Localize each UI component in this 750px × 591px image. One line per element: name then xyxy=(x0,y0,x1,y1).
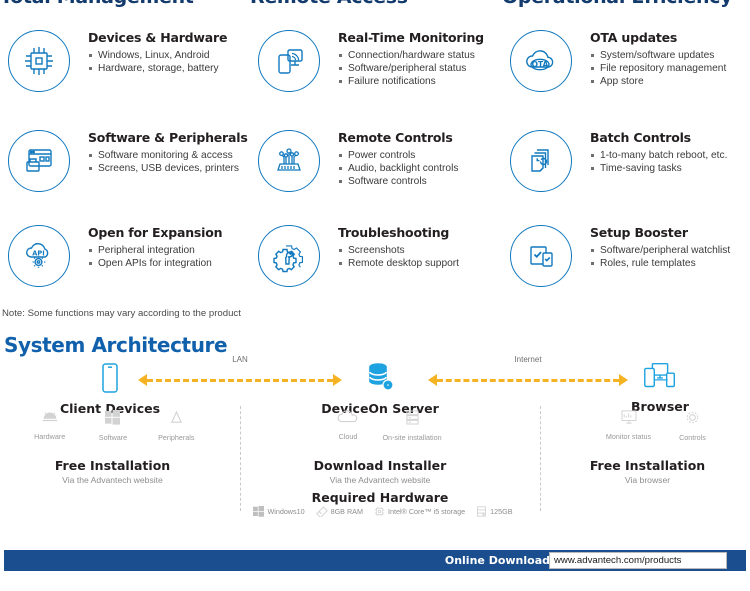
server-installer: Download Installer Via the Advantech web… xyxy=(260,458,500,485)
api-cloud-gear-icon: API xyxy=(8,225,70,287)
feature-title: Software & Peripherals xyxy=(88,130,253,145)
software-peripherals-icon xyxy=(8,130,70,192)
feature-bullet: Remote desktop support xyxy=(338,257,503,270)
browser-installation: Free Installation Via browser xyxy=(545,458,750,485)
feature-bullets: System/software updates File repository … xyxy=(590,49,750,88)
feature-title: Devices & Hardware xyxy=(88,30,253,45)
connection-label: LAN xyxy=(138,355,342,364)
feature-bullet: Failure notifications xyxy=(338,75,503,88)
storage-icon xyxy=(476,506,487,517)
sub-icon-hardware: Hardware xyxy=(18,410,81,442)
feature-text: Setup Booster Software/peripheral watchl… xyxy=(590,225,750,270)
feature-bullet: Hardware, storage, battery xyxy=(88,62,253,75)
feature-bullet: 1-to-many batch reboot, etc. xyxy=(590,149,750,162)
feature-text: Batch Controls 1-to-many batch reboot, e… xyxy=(590,130,750,175)
hardware-item-os: Windows10 xyxy=(253,506,304,517)
hardware-item-label: 8GB RAM xyxy=(331,507,363,516)
feature-bullet: Peripheral integration xyxy=(88,244,253,257)
arrow-left-icon xyxy=(428,374,437,386)
android-icon xyxy=(41,410,59,424)
feature-bullets: Software/peripheral watchlist Roles, rul… xyxy=(590,244,750,270)
troubleshooting-wrench-gear-icon xyxy=(258,225,320,287)
ota-cloud-icon: OTA xyxy=(510,30,572,92)
sub-icon-caption: Hardware xyxy=(18,432,81,441)
remote-controls-icon xyxy=(258,130,320,192)
chip-icon xyxy=(8,30,70,92)
connection-lan: LAN xyxy=(138,371,342,391)
browser-devices-icon xyxy=(640,362,680,392)
feature-bullet: File repository management xyxy=(590,62,750,75)
connection-internet: Internet xyxy=(428,371,628,391)
sub-icon-caption: Peripherals xyxy=(145,433,208,442)
feature-bullets: Power controls Audio, backlight controls… xyxy=(338,149,503,188)
browser-installation-headline: Free Installation xyxy=(545,458,750,473)
architecture-diagram: Client Devices Hardware Software Periphe… xyxy=(0,362,750,537)
hardware-item-label: Windows10 xyxy=(267,507,304,516)
hardware-item-ram: 8GB RAM xyxy=(316,506,363,517)
footer-bar: Online Download www.advantech.com/produc… xyxy=(4,550,746,571)
feature-bullets: Screenshots Remote desktop support xyxy=(338,244,503,270)
real-time-monitoring-icon xyxy=(258,30,320,92)
feature-card-batch-controls: Batch Controls 1-to-many batch reboot, e… xyxy=(502,130,750,225)
required-hardware-title: Required Hardware xyxy=(260,490,500,505)
feature-title: Real-Time Monitoring xyxy=(338,30,503,45)
column-headings: Total Management Remote Access Operation… xyxy=(0,0,750,8)
feature-bullet: System/software updates xyxy=(590,49,750,62)
ram-icon xyxy=(316,506,328,517)
feature-card-software-peripherals: Software & Peripherals Software monitori… xyxy=(0,130,250,225)
feature-bullet: Software/peripheral status xyxy=(338,62,503,75)
sub-icon-caption: Software xyxy=(81,433,144,442)
feature-bullets: 1-to-many batch reboot, etc. Time-saving… xyxy=(590,149,750,175)
feature-bullets: Software monitoring & access Screens, US… xyxy=(88,149,253,175)
feature-bullet: Windows, Linux, Android xyxy=(88,49,253,62)
dashed-line xyxy=(147,379,333,382)
hardware-item-cpu: Intel® Core™ i5 storage xyxy=(374,506,465,517)
feature-card-remote-controls: Remote Controls Power controls Audio, ba… xyxy=(250,130,500,225)
feature-bullets: Windows, Linux, Android Hardware, storag… xyxy=(88,49,253,75)
feature-bullet: Roles, rule templates xyxy=(590,257,750,270)
hardware-item-storage: 125GB xyxy=(476,506,512,517)
feature-card-devices-hardware: Devices & Hardware Windows, Linux, Andro… xyxy=(0,30,250,125)
feature-title: Troubleshooting xyxy=(338,225,503,240)
sub-icon-software: Software xyxy=(81,410,144,442)
on-site-server-icon xyxy=(406,410,419,425)
feature-bullet: Open APIs for integration xyxy=(88,257,253,270)
server-database-icon xyxy=(364,362,396,394)
feature-text: Devices & Hardware Windows, Linux, Andro… xyxy=(88,30,253,75)
feature-text: Remote Controls Power controls Audio, ba… xyxy=(338,130,503,188)
hardware-item-label: Intel® Core™ i5 storage xyxy=(388,507,465,516)
server-installer-headline: Download Installer xyxy=(260,458,500,473)
feature-bullet: App store xyxy=(590,75,750,88)
divider-right xyxy=(540,406,541,511)
peripherals-icon xyxy=(170,410,183,425)
feature-bullet: Screens, USB devices, printers xyxy=(88,162,253,175)
server-sub-icons: Cloud On-site installation xyxy=(300,410,460,442)
sub-icon-cloud: Cloud xyxy=(316,410,380,442)
svg-text:OTA: OTA xyxy=(532,60,549,69)
node-browser: Browser xyxy=(605,362,715,414)
feature-bullet: Audio, backlight controls xyxy=(338,162,503,175)
feature-title: Setup Booster xyxy=(590,225,750,240)
feature-bullet: Power controls xyxy=(338,149,503,162)
feature-title: Remote Controls xyxy=(338,130,503,145)
browser-sub-icons: Monitor status Controls xyxy=(578,410,743,442)
feature-title: Batch Controls xyxy=(590,130,750,145)
online-download-label: Online Download xyxy=(445,554,550,567)
monitor-status-icon xyxy=(621,410,637,424)
sub-icon-controls: Controls xyxy=(661,410,725,442)
client-installation: Free Installation Via the Advantech webs… xyxy=(0,458,225,485)
feature-bullet: Software controls xyxy=(338,175,503,188)
arrow-left-icon xyxy=(138,374,147,386)
client-installation-headline: Free Installation xyxy=(0,458,225,473)
feature-title: OTA updates xyxy=(590,30,750,45)
system-architecture-title: System Architecture xyxy=(4,333,227,357)
column-heading-remote-access: Remote Access xyxy=(250,0,408,8)
feature-bullet: Connection/hardware status xyxy=(338,49,503,62)
required-hardware-list: Windows10 8GB RAM Intel® Core™ i5 storag… xyxy=(248,506,518,517)
feature-text: Real-Time Monitoring Connection/hardware… xyxy=(338,30,503,88)
feature-bullet: Time-saving tasks xyxy=(590,162,750,175)
feature-bullets: Peripheral integration Open APIs for int… xyxy=(88,244,253,270)
feature-bullets: Connection/hardware status Software/peri… xyxy=(338,49,503,88)
node-deviceon-server: DeviceOn Server xyxy=(318,362,442,416)
client-installation-subline: Via the Advantech website xyxy=(0,475,225,485)
feature-bullet: Software monitoring & access xyxy=(88,149,253,162)
feature-bullet: Screenshots xyxy=(338,244,503,257)
server-installer-subline: Via the Advantech website xyxy=(260,475,500,485)
dashed-line xyxy=(437,379,619,382)
browser-installation-subline: Via browser xyxy=(545,475,750,485)
sub-icon-peripherals: Peripherals xyxy=(145,410,208,442)
controls-gear-icon xyxy=(685,410,700,425)
feature-card-open-for-expansion: API Open for Expansion Peripheral integr… xyxy=(0,225,250,320)
feature-text: Open for Expansion Peripheral integratio… xyxy=(88,225,253,270)
feature-card-setup-booster: Setup Booster Software/peripheral watchl… xyxy=(502,225,750,320)
sub-icon-caption: Controls xyxy=(661,433,725,442)
column-heading-operational-efficiency: Operational Efficiency xyxy=(502,0,732,8)
feature-card-ota-updates: OTA OTA updates System/software updates … xyxy=(502,30,750,125)
feature-card-troubleshooting: Troubleshooting Screenshots Remote deskt… xyxy=(250,225,500,320)
feature-text: Troubleshooting Screenshots Remote deskt… xyxy=(338,225,503,270)
online-download-url[interactable]: www.advantech.com/products xyxy=(549,552,727,569)
feature-title: Open for Expansion xyxy=(88,225,253,240)
feature-text: OTA updates System/software updates File… xyxy=(590,30,750,88)
required-hardware-title-wrap: Required Hardware xyxy=(260,490,500,505)
connection-label: Internet xyxy=(428,355,628,364)
windows-icon xyxy=(105,410,120,425)
feature-card-real-time-monitoring: Real-Time Monitoring Connection/hardware… xyxy=(250,30,500,125)
divider-left xyxy=(240,406,241,511)
windows-icon xyxy=(253,506,264,517)
sub-icon-monitor-status: Monitor status xyxy=(597,410,661,442)
sub-icon-caption: On-site installation xyxy=(380,433,444,442)
sub-icon-caption: Cloud xyxy=(316,432,380,441)
product-note: Note: Some functions may vary according … xyxy=(2,308,241,319)
client-sub-icons: Hardware Software Peripherals xyxy=(18,410,208,442)
column-heading-total-management: Total Management xyxy=(0,0,194,8)
batch-controls-icon xyxy=(510,130,572,192)
cpu-icon xyxy=(374,506,385,517)
sub-icon-caption: Monitor status xyxy=(597,432,661,441)
setup-booster-checklist-icon xyxy=(510,225,572,287)
smartphone-icon xyxy=(99,362,121,394)
cloud-icon xyxy=(337,410,359,424)
feature-text: Software & Peripherals Software monitori… xyxy=(88,130,253,175)
sub-icon-onsite-installation: On-site installation xyxy=(380,410,444,442)
feature-bullet: Software/peripheral watchlist xyxy=(590,244,750,257)
hardware-item-label: 125GB xyxy=(490,507,512,516)
